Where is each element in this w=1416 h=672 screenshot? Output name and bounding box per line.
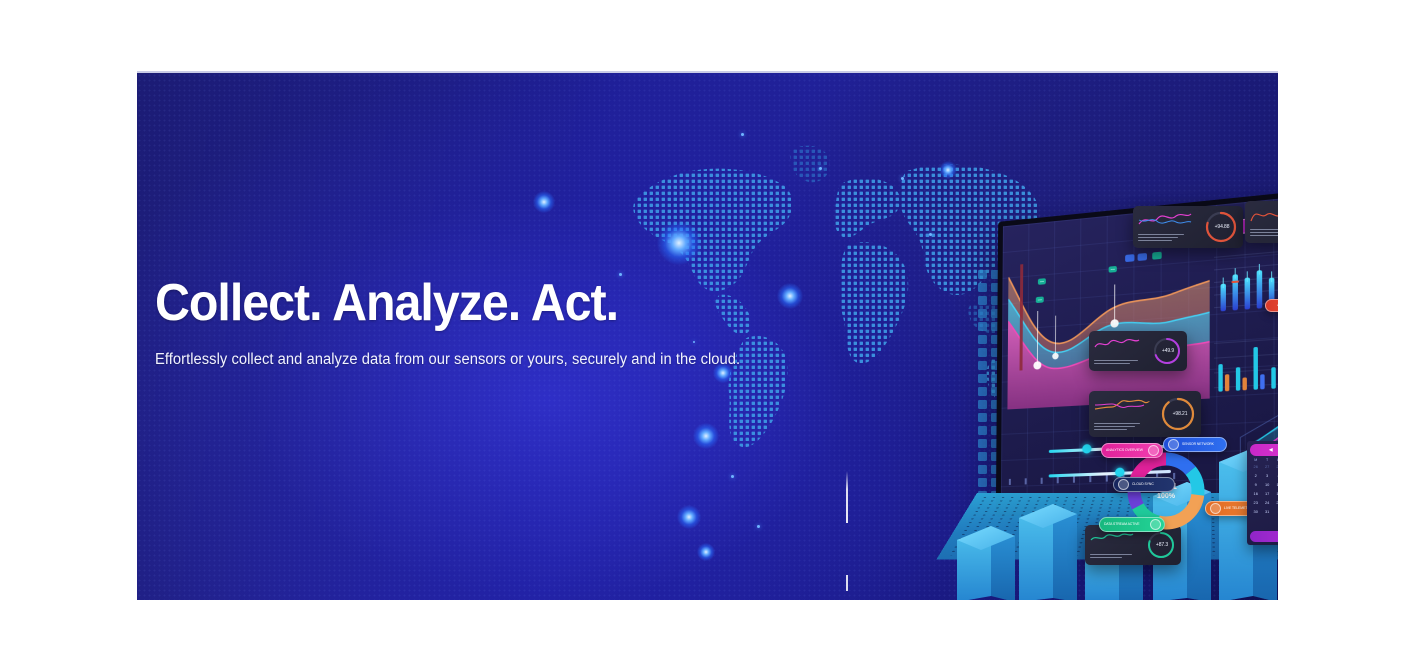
card-text-lines <box>1250 229 1278 238</box>
calendar-year-footer: 2021 <box>1250 531 1278 542</box>
calendar-day[interactable]: 27 <box>1261 463 1272 471</box>
calendar-widget[interactable]: ◀ AUGUST ▶ MTWTFSS 262728293031123456789… <box>1247 441 1278 545</box>
calendar-day[interactable]: 3 <box>1261 472 1272 480</box>
badge-label: DATA STREAM ACTIVE <box>1104 523 1147 527</box>
chart-legend-chip <box>1138 253 1147 261</box>
badge-label: SENSOR NETWORK <box>1182 443 1223 447</box>
calendar-day[interactable]: 1 <box>1273 508 1278 516</box>
page-title: Collect. Analyze. Act. <box>155 276 862 330</box>
calendar-day[interactable]: 2 <box>1250 472 1261 480</box>
metric-value: +94.88 <box>1205 224 1239 230</box>
calendar-day[interactable]: 11 <box>1273 481 1278 489</box>
badge-data-stream[interactable]: DATA STREAM ACTIVE <box>1099 517 1165 532</box>
metric-card-top-right: +85.43 <box>1245 201 1278 243</box>
donut-percent: 100% <box>1157 493 1175 500</box>
calendar-day[interactable]: 28 <box>1273 463 1278 471</box>
calendar-day[interactable]: 10 <box>1261 481 1272 489</box>
map-dot <box>819 167 822 170</box>
calendar-day[interactable]: 18 <box>1273 490 1278 498</box>
calendar-weekday: M <box>1250 458 1261 462</box>
metric-card-top-left: +94.88 <box>1133 206 1243 248</box>
candlestick-bar-chart-lower <box>1210 325 1278 405</box>
sparkline <box>1094 335 1140 351</box>
map-dot <box>741 133 744 136</box>
calendar-day[interactable]: 23 <box>1250 499 1261 507</box>
sparkline <box>1094 395 1150 413</box>
card-text-lines <box>1094 423 1140 432</box>
badge-knob-icon <box>1210 503 1221 514</box>
page-subtitle: Effortlessly collect and analyze data fr… <box>155 351 877 369</box>
candlestick-bar-chart-upper <box>1210 236 1278 325</box>
calendar-day-grid[interactable]: 2627282930311234567891011121314151617181… <box>1247 462 1278 517</box>
area-chart: •••• •••• •••• <box>1007 241 1209 409</box>
sparkline <box>1250 205 1278 223</box>
metric-value: +49.9 <box>1153 348 1183 354</box>
badge-analytics-overview[interactable]: ANALYTICS OVERVIEW <box>1101 443 1163 458</box>
screenshot-root: •••• •••• •••• <box>0 0 1416 672</box>
badge-knob-icon <box>1148 445 1159 456</box>
calendar-day[interactable]: 17 <box>1261 490 1272 498</box>
card-text-lines <box>1090 554 1136 560</box>
calendar-day[interactable]: 24 <box>1261 499 1272 507</box>
chart-legend-chip <box>1152 252 1161 260</box>
metric-value: +87.3 <box>1147 542 1177 548</box>
calendar-day[interactable]: 4 <box>1273 472 1278 480</box>
calendar-day[interactable]: 26 <box>1250 463 1261 471</box>
chart-tooltip: •••• <box>1038 278 1046 285</box>
badge-label: ALERT <box>1270 304 1278 308</box>
calendar-weekday-row: MTWTFSS <box>1247 458 1278 462</box>
metric-value: +98.21 <box>1163 411 1197 417</box>
map-dot <box>731 475 734 478</box>
metric-card-mid-low: +98.21 <box>1089 391 1201 437</box>
badge-label: ANALYTICS OVERVIEW <box>1106 449 1145 453</box>
calendar-day[interactable]: 25 <box>1273 499 1278 507</box>
calendar-day[interactable]: 9 <box>1250 481 1261 489</box>
badge-knob-icon <box>1118 479 1129 490</box>
card-text-lines <box>1094 360 1140 366</box>
badge-cloud-sync[interactable]: CLOUD SYNC <box>1113 477 1175 492</box>
sparkline <box>1138 210 1192 228</box>
card-text-lines <box>1138 234 1184 243</box>
badge-knob-icon <box>1150 519 1161 530</box>
calendar-month-header: ◀ AUGUST ▶ <box>1250 444 1278 456</box>
badge-sensor-network[interactable]: SENSOR NETWORK <box>1163 437 1227 452</box>
hero-copy-block: Collect. Analyze. Act. Effortlessly coll… <box>155 276 915 369</box>
chart-tooltip: •••• <box>1109 266 1117 273</box>
calendar-prev-icon[interactable]: ◀ <box>1269 447 1273 453</box>
chart-tooltip: •••• <box>1036 296 1044 303</box>
map-dot <box>757 525 760 528</box>
chart-legend-chip <box>1125 254 1134 262</box>
calendar-day[interactable]: 30 <box>1250 508 1261 516</box>
badge-knob-icon <box>1168 439 1179 450</box>
calendar-day[interactable]: 31 <box>1261 508 1272 516</box>
calendar-weekday: W <box>1273 458 1278 462</box>
metric-card-mid-left: +49.9 <box>1089 331 1187 371</box>
badge-label: CLOUD SYNC <box>1132 483 1171 487</box>
calendar-weekday: T <box>1261 458 1272 462</box>
badge-alert[interactable]: ALERT <box>1265 299 1278 312</box>
calendar-day[interactable]: 16 <box>1250 490 1261 498</box>
